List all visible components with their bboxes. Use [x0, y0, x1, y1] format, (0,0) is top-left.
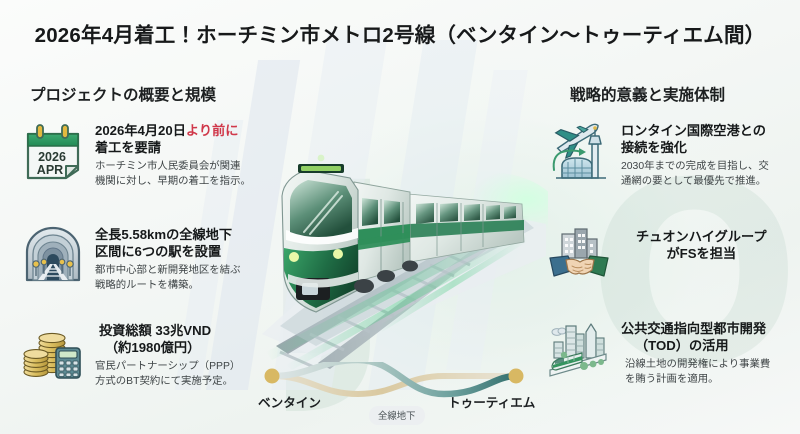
right-item-3-heading-line1: 公共交通指向型都市開発: [621, 321, 770, 338]
right-item-1-desc-line2: 通網の要として最優先で推進。: [621, 175, 769, 190]
left-item-2-text: 全長5.58kmの全線地下 区間に6つの駅を設置 都市中心部と新開発地区を結ぶ …: [95, 226, 240, 293]
left-item-1-heading-line2: 着工を要請: [95, 140, 251, 157]
right-item-1-heading-line2: 接続を強化: [621, 140, 769, 157]
left-item-construction-start: 2026 APR 2026年4月20日より前に 着工を要請 ホーチミン市人民委員…: [22, 122, 251, 189]
calendar-year-text: 2026: [38, 150, 66, 164]
heading-highlight: より前に: [186, 123, 239, 138]
left-item-2-desc-line1: 都市中心部と新開発地区を結ぶ: [95, 264, 240, 279]
route-station-start-label: ベンタイン: [258, 392, 321, 411]
left-column-heading: プロジェクトの概要と規模: [30, 83, 216, 105]
infographic-canvas: I J O: [0, 0, 800, 434]
route-station-end-label: トゥーティエム: [448, 392, 535, 411]
page-title-bar: 2026年4月着工！ホーチミン市メトロ2号線（ベンタイン～トゥーティエム間）: [0, 18, 800, 48]
left-item-investment: 投資総額 33兆VND （約1980億円） 官民パートナーシップ（PPP） 方式…: [22, 322, 240, 389]
left-item-2-heading-line1: 全長5.58kmの全線地下: [95, 227, 240, 244]
right-item-2-heading-line1: チュオンハイグループ: [636, 229, 767, 246]
airport-plane-icon: [548, 122, 610, 180]
right-item-3-desc-line2: を賄う計画を適用。: [621, 373, 770, 388]
tunnel-icon: [22, 226, 84, 284]
right-column-heading: 戦略的意義と実施体制: [570, 83, 725, 105]
right-item-1-text: ロンタイン国際空港との 接続を強化 2030年までの完成を目指し、交 通網の要と…: [621, 122, 769, 189]
left-item-1-text: 2026年4月20日より前に 着工を要請 ホーチミン市人民委員会が関連 機関に対…: [95, 122, 251, 189]
calendar-icon: 2026 APR: [22, 122, 84, 180]
handshake-buildings-icon: [548, 228, 610, 280]
left-item-1-heading-line1: 2026年4月20日より前に: [95, 123, 251, 140]
left-item-3-text: 投資総額 33兆VND （約1980億円） 官民パートナーシップ（PPP） 方式…: [95, 322, 240, 389]
coins-calculator-icon: [22, 322, 84, 380]
route-station-dot-start: [265, 369, 280, 384]
right-item-3-heading-line2: （TOD）の活用: [621, 338, 770, 355]
right-item-1-desc-line1: 2030年までの完成を目指し、交: [621, 160, 769, 175]
right-item-fs-contractor: チュオンハイグループ がFSを担当: [548, 228, 767, 280]
left-item-2-desc-line2: 戦略的ルートを構築。: [95, 279, 240, 294]
right-item-3-text: 公共交通指向型都市開発 （TOD）の活用 沿線土地の開発権により事業費 を賄う計…: [621, 320, 770, 387]
right-item-3-desc-line1: 沿線土地の開発権により事業費: [621, 358, 770, 373]
right-item-1-heading-line1: ロンタイン国際空港との: [621, 123, 769, 140]
left-item-3-desc-line2: 方式のBT契約にて実施予定。: [95, 375, 240, 390]
left-item-2-heading-line2: 区間に6つの駅を設置: [95, 244, 240, 261]
route-underground-badge: 全線地下: [369, 406, 425, 425]
right-item-airport-connection: ロンタイン国際空港との 接続を強化 2030年までの完成を目指し、交 通網の要と…: [548, 122, 769, 189]
calendar-month-text: APR: [37, 163, 63, 177]
right-item-2-heading-line2: がFSを担当: [636, 246, 767, 263]
metro-train-illustration: [258, 120, 548, 370]
left-item-3-heading-line1: 投資総額 33兆VND: [95, 323, 240, 340]
page-title: 2026年4月着工！ホーチミン市メトロ2号線（ベンタイン～トゥーティエム間）: [35, 18, 766, 48]
left-item-tunnel-length: 全長5.58kmの全線地下 区間に6つの駅を設置 都市中心部と新開発地区を結ぶ …: [22, 226, 240, 293]
route-station-dot-end: [509, 369, 524, 384]
left-item-3-heading-line2: （約1980億円）: [95, 340, 240, 357]
left-item-1-desc-line1: ホーチミン市人民委員会が関連: [95, 160, 251, 175]
right-item-tod: 公共交通指向型都市開発 （TOD）の活用 沿線土地の開発権により事業費 を賄う計…: [548, 320, 770, 387]
left-item-3-desc-line1: 官民パートナーシップ（PPP）: [95, 360, 240, 375]
right-item-2-text: チュオンハイグループ がFSを担当: [636, 228, 767, 263]
left-item-1-desc-line2: 機関に対し、早期の着工を指示。: [95, 175, 251, 190]
